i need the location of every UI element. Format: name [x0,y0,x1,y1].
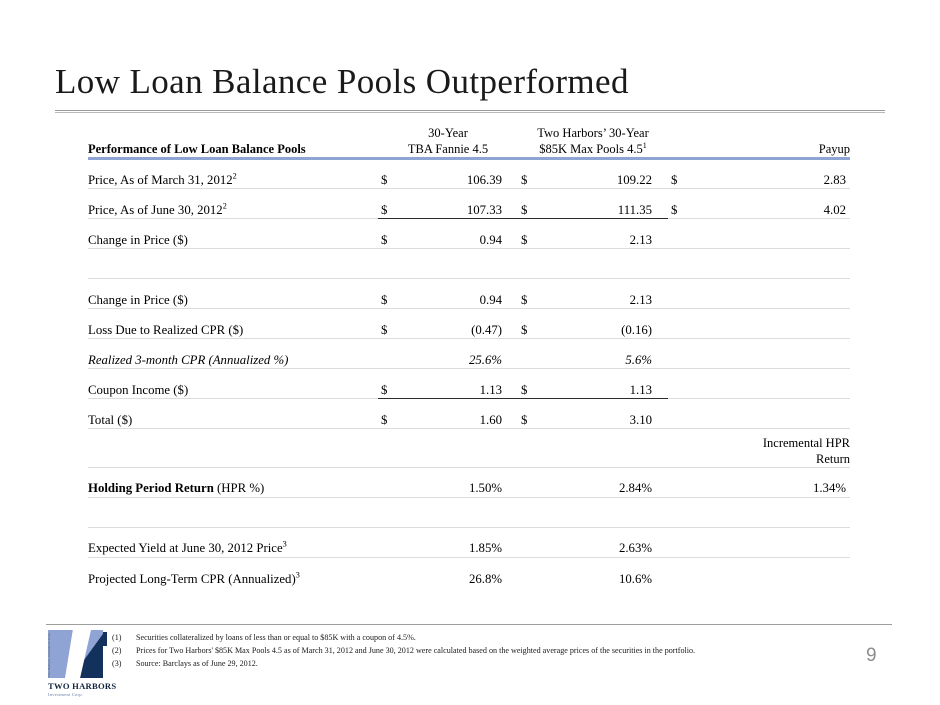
footnote-text: Securities collateralized by loans of le… [136,631,872,644]
table-row: Change in Price ($) $ 0.94 $ 2.13 [88,279,850,309]
header-col2-superscript: 1 [643,140,647,149]
row-value-1: 1.85% [406,527,518,557]
header-col2-line1: Two Harbors’ 30-Year [518,126,668,142]
row-value-2: 10.6% [546,557,668,587]
row-value-2: 2.13 [546,279,668,309]
row-currency-2: $ [518,219,546,249]
footnote-text: Source: Barclays as of June 29, 2012. [136,657,872,670]
row-value-1: 106.39 [406,159,518,189]
row-currency-1: $ [378,159,406,189]
incremental-header-line2: Return [88,451,850,468]
spacer-cell [378,497,406,527]
footnote-accent-bar [103,632,107,646]
row-value-3 [696,219,850,249]
table-row-total: Total ($) $ 1.60 $ 3.10 [88,399,850,429]
table-row: Realized 3-month CPR (Annualized %) 25.6… [88,339,850,369]
row-label: Realized 3-month CPR (Annualized %) [88,339,378,369]
table-row: Projected Long-Term CPR (Annualized)3 26… [88,557,850,587]
table-row: Coupon Income ($) $ 1.13 $ 1.13 [88,369,850,399]
row-label-text: Price, As of March 31, 2012 [88,173,233,187]
row-label: Loss Due to Realized CPR ($) [88,309,378,339]
row-currency-1 [378,467,406,497]
row-value-3 [696,279,850,309]
header-col2-text: $85K Max Pools 4.5 [539,142,642,156]
row-currency-1 [378,527,406,557]
row-currency-1 [378,557,406,587]
row-value-1: 1.60 [406,399,518,429]
row-value-1: 1.50% [406,467,518,497]
row-value-1: 107.33 [406,189,518,219]
row-currency-2: $ [518,159,546,189]
row-currency-2 [518,339,546,369]
row-currency-2: $ [518,189,546,219]
row-value-1: 0.94 [406,219,518,249]
row-value-1: 25.6% [406,339,518,369]
row-value-2: 2.13 [546,219,668,249]
row-currency-2 [518,557,546,587]
incremental-header-spacer [88,429,668,451]
footer-divider [46,624,892,625]
slide: Low Loan Balance Pools Outperformed 30-Y… [0,0,940,705]
row-currency-3 [668,369,696,399]
page-title: Low Loan Balance Pools Outperformed [55,62,885,101]
spacer-cell [668,497,696,527]
row-currency-3 [668,309,696,339]
row-label-text: Price, As of June 30, 2012 [88,203,223,217]
row-label-bold: Holding Period Return [88,481,217,495]
table-header-top: 30-Year Two Harbors’ 30-Year [88,126,850,142]
page-number: 9 [866,645,877,667]
spacer-cell [406,497,518,527]
row-label-rest: (HPR %) [217,481,264,495]
spacer-cell [668,249,696,279]
row-currency-3 [668,527,696,557]
title-divider [55,110,885,113]
table-row: Expected Yield at June 30, 2012 Price3 1… [88,527,850,557]
footnote-item: (3) Source: Barclays as of June 29, 2012… [112,657,872,670]
incremental-header-spacer [88,451,668,468]
row-value-1: 1.13 [406,369,518,399]
header-col1-line1: 30-Year [378,126,518,142]
spacer-cell [696,497,850,527]
row-label: Change in Price ($) [88,219,378,249]
table-spacer-row [88,497,850,527]
table-row: Change in Price ($) $ 0.94 $ 2.13 [88,219,850,249]
row-value-3: 2.83 [696,159,850,189]
row-label: Price, As of March 31, 20122 [88,159,378,189]
row-label: Price, As of June 30, 20122 [88,189,378,219]
row-label-superscript: 3 [296,571,300,580]
row-currency-2: $ [518,369,546,399]
row-label: Projected Long-Term CPR (Annualized)3 [88,557,378,587]
table-row: Price, As of June 30, 20122 $ 107.33 $ 1… [88,189,850,219]
header-label-spacer [88,126,378,142]
row-currency-3 [668,399,696,429]
header-col3: Payup [668,142,850,159]
incremental-header-line1: Incremental HPR [88,429,850,451]
row-label: Expected Yield at June 30, 2012 Price3 [88,527,378,557]
row-currency-3 [668,557,696,587]
row-value-3: 4.02 [696,189,850,219]
row-value-2: 1.13 [546,369,668,399]
row-currency-3 [668,279,696,309]
footnotes: (1) Securities collateralized by loans o… [112,631,872,670]
header-col1-line2: TBA Fannie 4.5 [378,142,518,159]
spacer-cell [696,249,850,279]
row-label: Total ($) [88,399,378,429]
row-currency-2 [518,467,546,497]
row-value-3 [696,557,850,587]
row-currency-1: $ [378,369,406,399]
sail-logo-icon: Two Harbors Investment Corp. [48,630,103,678]
table-header-bottom: Performance of Low Loan Balance Pools TB… [88,142,850,159]
row-currency-1: $ [378,279,406,309]
row-value-2: 109.22 [546,159,668,189]
header-col2-line2: $85K Max Pools 4.51 [518,142,668,159]
row-label-text: Projected Long-Term CPR (Annualized) [88,572,296,586]
incremental-header-text-2: Return [668,451,850,468]
row-currency-3 [668,339,696,369]
row-value-3 [696,369,850,399]
table-row-hpr: Holding Period Return (HPR %) 1.50% 2.84… [88,467,850,497]
row-currency-3: $ [668,159,696,189]
spacer-cell [546,249,668,279]
spacer-cell [518,497,546,527]
table-row: Loss Due to Realized CPR ($) $ (0.47) $ … [88,309,850,339]
header-col3-spacer [668,126,850,142]
row-value-2: 111.35 [546,189,668,219]
logo-name: TWO HARBORS [48,681,110,691]
row-label-text: Expected Yield at June 30, 2012 Price [88,541,283,555]
footnote-text: Prices for Two Harbors' $85K Max Pools 4… [136,644,872,657]
row-currency-1: $ [378,399,406,429]
row-label: Holding Period Return (HPR %) [88,467,378,497]
footnote-number: (3) [112,657,136,670]
row-value-3 [696,309,850,339]
row-currency-1: $ [378,189,406,219]
logo-edge-text: Two Harbors Investment Corp. [48,632,51,677]
row-currency-1 [378,339,406,369]
row-currency-2: $ [518,399,546,429]
row-value-3 [696,339,850,369]
row-value-3: 1.34% [696,467,850,497]
spacer-cell [518,249,546,279]
row-value-1: 26.8% [406,557,518,587]
spacer-cell [88,497,378,527]
row-value-1: (0.47) [406,309,518,339]
row-value-2: 2.84% [546,467,668,497]
row-currency-3 [668,467,696,497]
performance-table: 30-Year Two Harbors’ 30-Year Performance… [88,126,850,587]
row-currency-2: $ [518,279,546,309]
row-currency-2: $ [518,309,546,339]
footnote-item: (2) Prices for Two Harbors' $85K Max Poo… [112,644,872,657]
row-currency-1: $ [378,309,406,339]
row-label-superscript: 2 [223,202,227,211]
table-spacer-row [88,249,850,279]
company-logo: Two Harbors Investment Corp. TWO HARBORS… [48,630,110,700]
row-value-2: (0.16) [546,309,668,339]
row-value-1: 0.94 [406,279,518,309]
spacer-cell [546,497,668,527]
logo-subtitle: Investment Corp. [48,692,110,697]
row-value-2: 2.63% [546,527,668,557]
title-block: Low Loan Balance Pools Outperformed [55,62,885,113]
spacer-cell [406,249,518,279]
row-currency-1: $ [378,219,406,249]
row-label: Change in Price ($) [88,279,378,309]
row-label: Coupon Income ($) [88,369,378,399]
row-currency-3: $ [668,189,696,219]
incremental-header-text-1: Incremental HPR [668,429,850,451]
row-label-superscript: 3 [283,540,287,549]
row-value-3 [696,527,850,557]
performance-table-wrap: 30-Year Two Harbors’ 30-Year Performance… [88,126,850,587]
spacer-cell [88,249,378,279]
row-value-2: 3.10 [546,399,668,429]
footnote-number: (1) [112,631,136,644]
footnote-item: (1) Securities collateralized by loans o… [112,631,872,644]
row-currency-3 [668,219,696,249]
header-label: Performance of Low Loan Balance Pools [88,142,378,159]
footnote-number: (2) [112,644,136,657]
row-value-2: 5.6% [546,339,668,369]
row-label-superscript: 2 [233,172,237,181]
spacer-cell [378,249,406,279]
row-currency-2 [518,527,546,557]
row-value-3 [696,399,850,429]
table-row: Price, As of March 31, 20122 $ 106.39 $ … [88,159,850,189]
